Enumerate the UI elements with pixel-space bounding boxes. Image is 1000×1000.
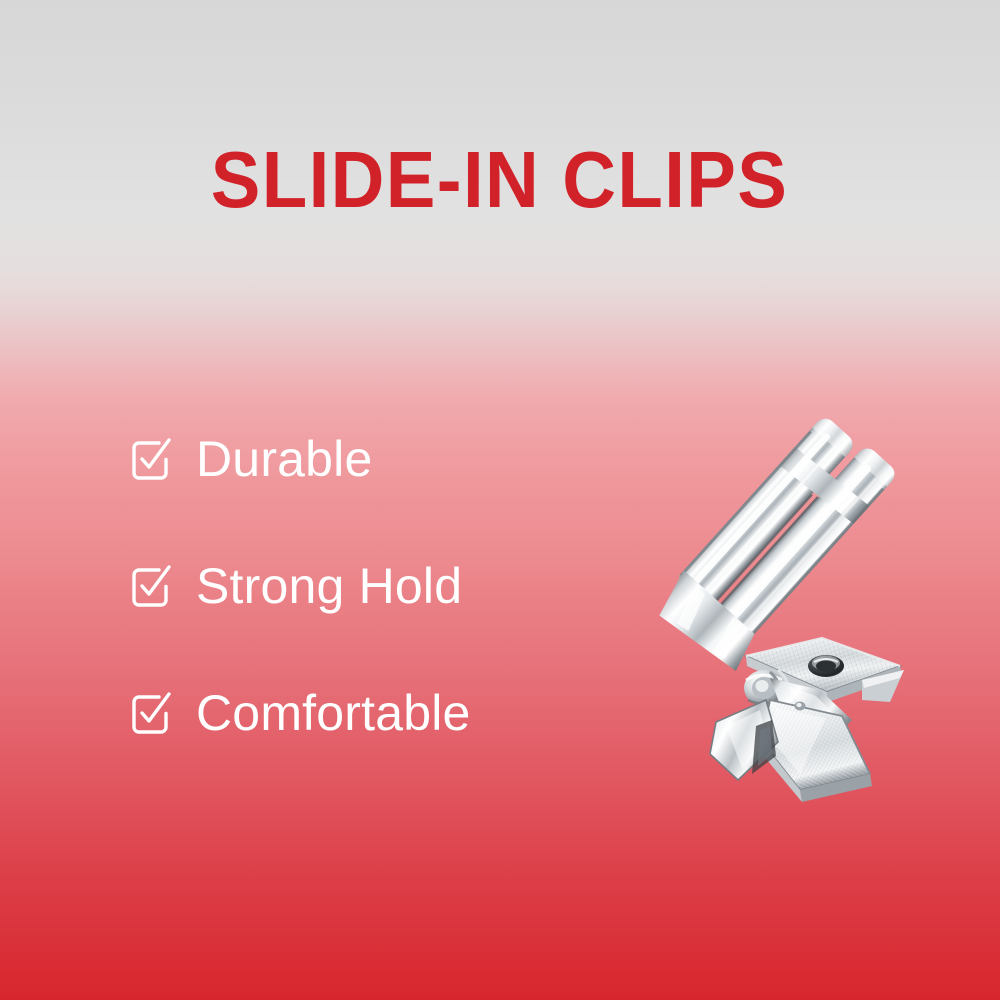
checkbox-check-icon [128, 690, 174, 736]
page-title-container: SLIDE-IN CLIPS [0, 140, 1000, 220]
clamp-lower-jaw [762, 700, 872, 802]
product-feature-poster: SLIDE-IN CLIPS Durable Strong Hold [0, 0, 1000, 1000]
product-image-slide-in-clip [470, 370, 950, 850]
list-item-label: Strong Hold [196, 561, 462, 611]
clip-arm [650, 410, 907, 679]
checkbox-check-icon [128, 563, 174, 609]
list-item-label: Durable [196, 434, 373, 484]
page-title: SLIDE-IN CLIPS [211, 140, 789, 220]
list-item-label: Comfortable [196, 688, 471, 738]
checkbox-check-icon [128, 436, 174, 482]
